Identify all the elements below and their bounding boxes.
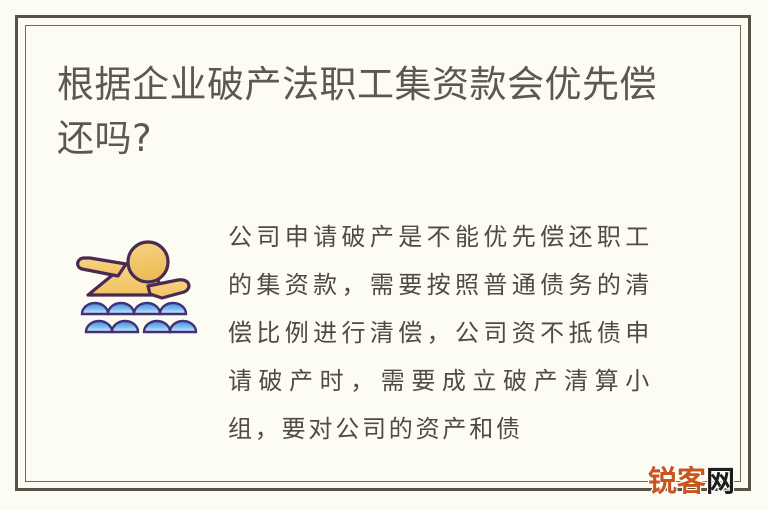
swimmer-icon (62, 220, 202, 340)
article-body: 公司申请破产是不能优先偿还职工的集资款，需要按照普通债务的清偿比例进行清偿，公司… (228, 213, 652, 453)
watermark-primary-text: 锐客 (648, 464, 706, 498)
content-row: 公司申请破产是不能优先偿还职工的集资款，需要按照普通债务的清偿比例进行清偿，公司… (0, 205, 768, 475)
site-watermark: 锐客网 (648, 466, 735, 496)
article-card: 根据企业破产法职工集资款会优先偿还吗? (0, 0, 768, 510)
watermark-secondary-text: 网 (706, 464, 735, 498)
page-title: 根据企业破产法职工集资款会优先偿还吗? (57, 58, 667, 166)
